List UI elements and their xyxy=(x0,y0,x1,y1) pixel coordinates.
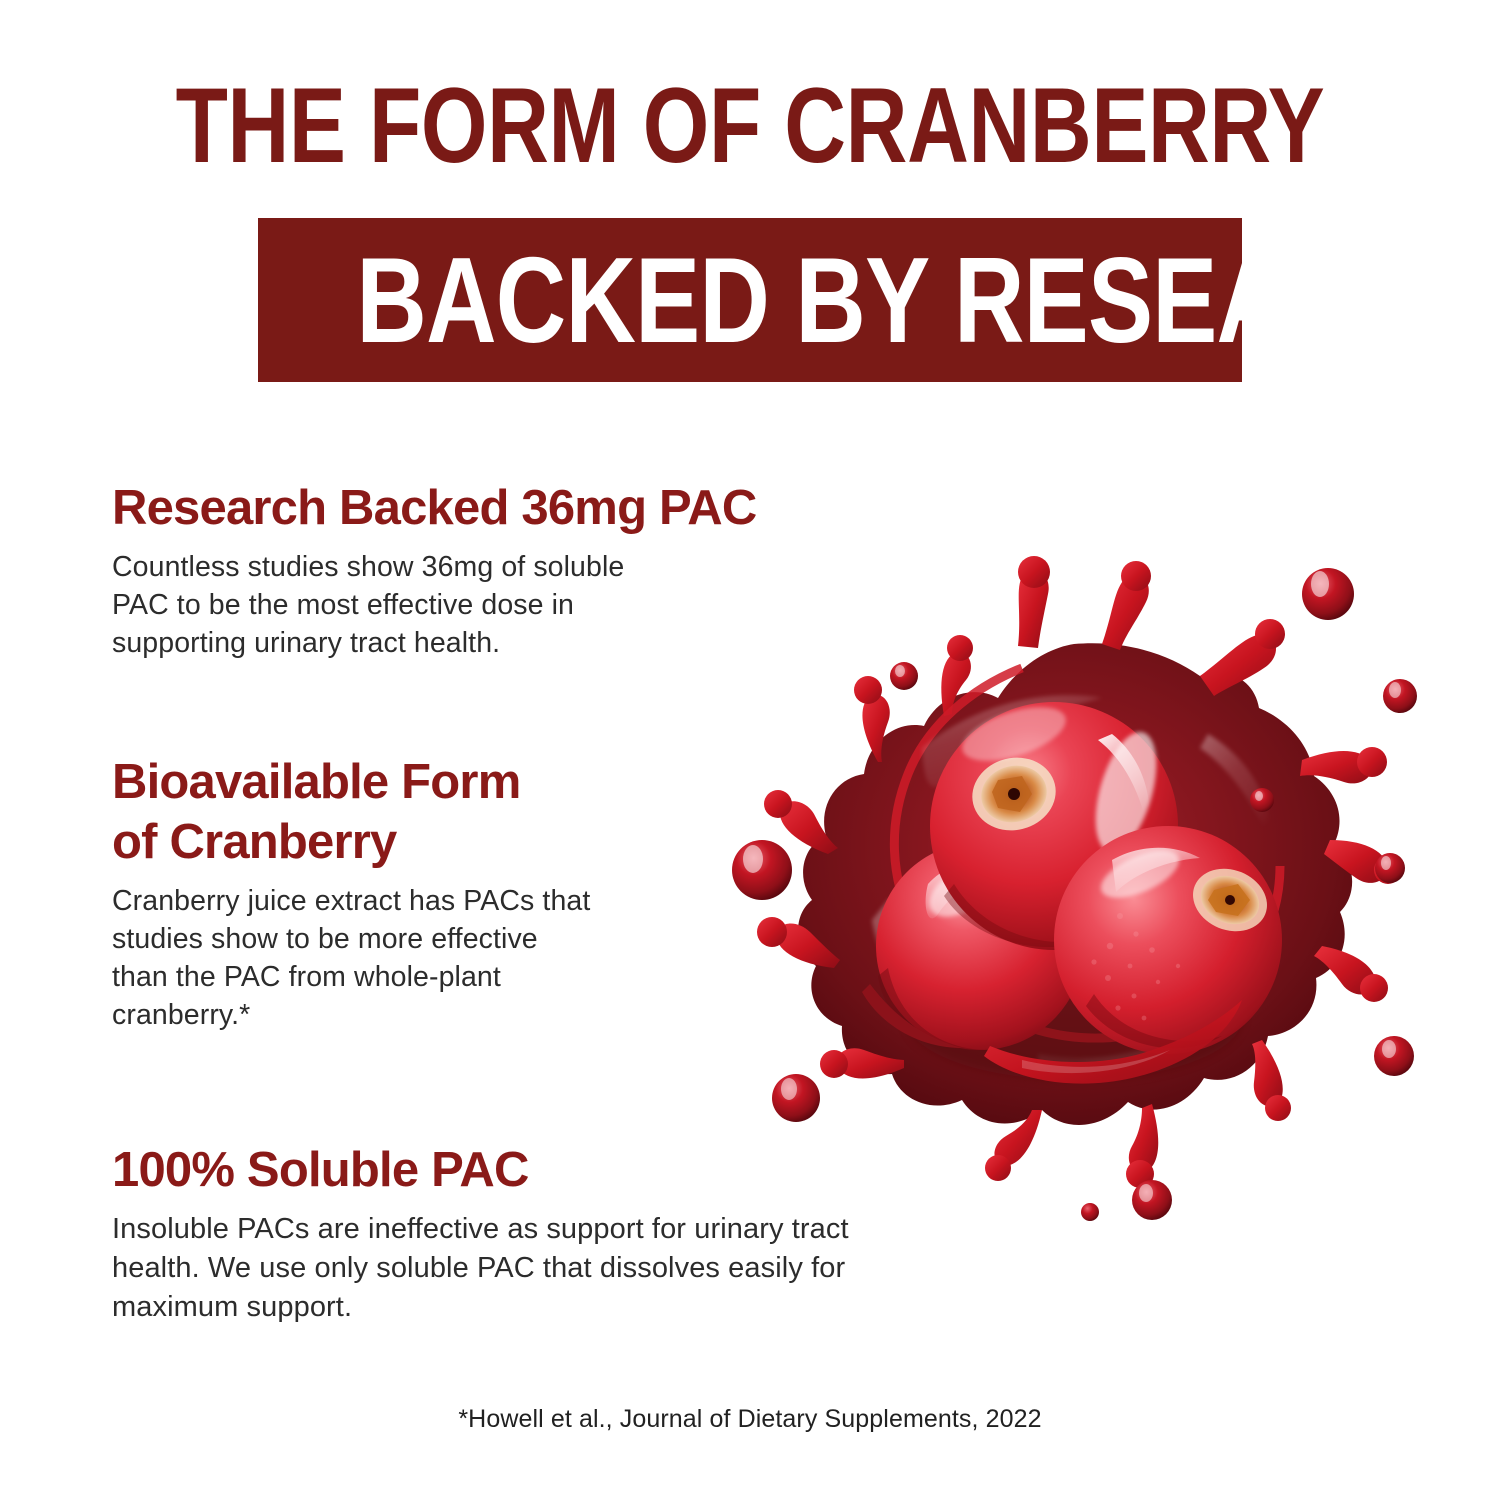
section-body: Countless studies show 36mg of soluble P… xyxy=(112,548,812,662)
section-soluble-pac: 100% Soluble PAC Insoluble PACs are inef… xyxy=(112,1140,1072,1327)
section-body: Cranberry juice extract has PACs that st… xyxy=(112,882,752,1034)
section-heading: 100% Soluble PAC xyxy=(112,1140,1072,1200)
section-bioavailable-form: Bioavailable Form of Cranberry Cranberry… xyxy=(112,752,752,1034)
section-heading: Research Backed 36mg PAC xyxy=(112,478,812,538)
footnote-citation: *Howell et al., Journal of Dietary Suppl… xyxy=(0,1405,1500,1434)
infographic-page: THE FORM OF CRANBERRY BACKED BY RESEARCH xyxy=(0,0,1500,1500)
section-research-backed: Research Backed 36mg PAC Countless studi… xyxy=(112,478,812,662)
section-heading: Bioavailable Form of Cranberry xyxy=(112,752,752,872)
section-body: Insoluble PACs are ineffective as suppor… xyxy=(112,1210,1072,1327)
content-sections: Research Backed 36mg PAC Countless studi… xyxy=(0,0,1500,1500)
